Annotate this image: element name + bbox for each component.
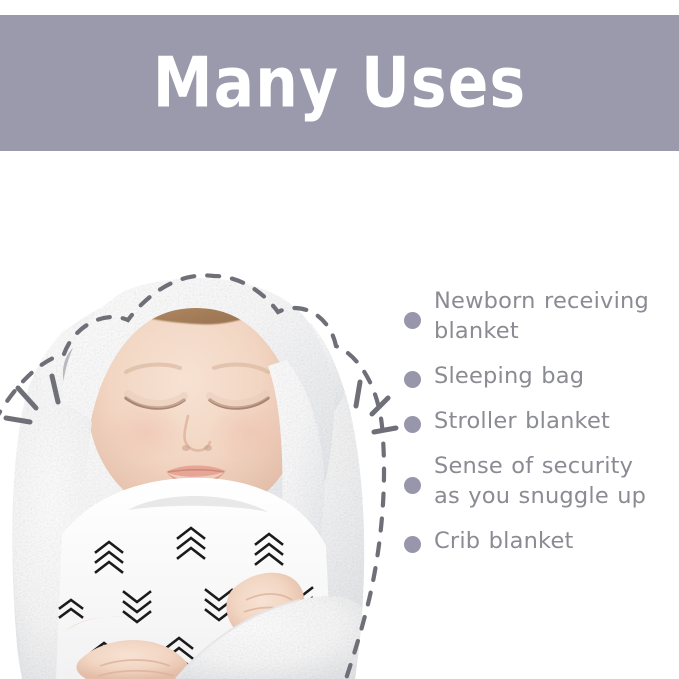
list-item-label: Sense of security as you snuggle up [434,451,662,511]
product-photo [0,160,400,679]
list-item-label: Sleeping bag [434,361,584,391]
list-item[interactable]: Sense of security as you snuggle up [404,451,676,511]
page-title: Many Uses [153,48,526,117]
bullet-dot-icon [404,536,421,553]
product-feature-card: Many Uses [0,0,679,679]
list-item[interactable]: Crib blanket [404,526,676,556]
list-item[interactable]: Stroller blanket [404,406,676,436]
bullet-dot-icon [404,312,421,329]
list-item-label: Crib blanket [434,526,574,556]
bullet-dot-icon [404,371,421,388]
baby-blanket-illustration [0,160,400,679]
list-item-label: Stroller blanket [434,406,610,436]
header-band: Many Uses [0,15,679,151]
list-item[interactable]: Sleeping bag [404,361,676,391]
baby-figure [9,272,367,679]
list-item[interactable]: Newborn receiving blanket [404,286,676,346]
uses-list: Newborn receiving blanket Sleeping bag S… [404,286,676,556]
bullet-dot-icon [404,477,421,494]
bullet-dot-icon [404,416,421,433]
list-item-label: Newborn receiving blanket [434,286,662,346]
